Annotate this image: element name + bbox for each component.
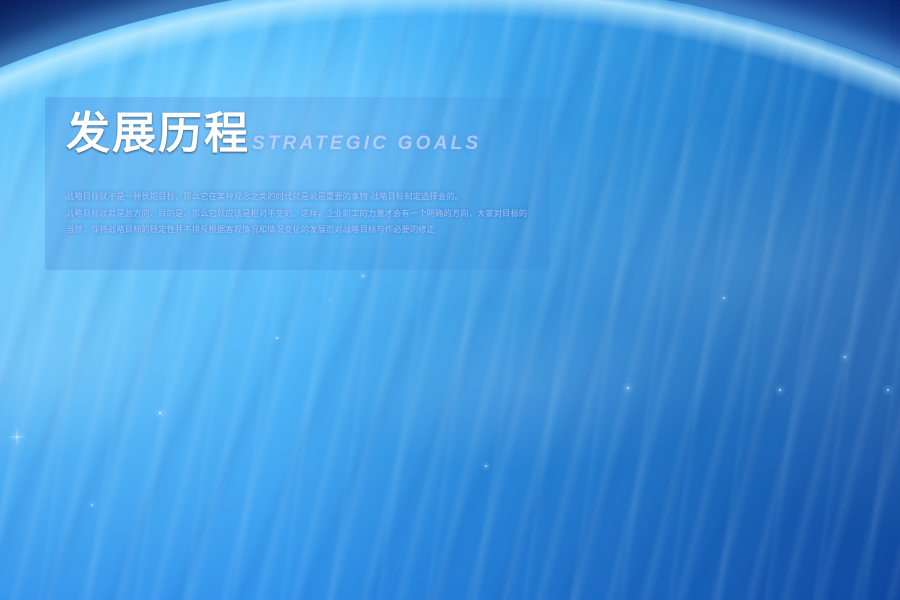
headline-block: 发展历程 STRATEGIC GOALS: [66, 112, 536, 156]
earth-limb-highlight: [0, 0, 900, 600]
earth-sphere: [0, 0, 900, 600]
page-title: 发展历程: [66, 112, 250, 156]
body-line: 战略目标就不是一种长期目标，那么它在某种观念之类的时代就是说是重要的事物 战略目…: [66, 188, 528, 205]
body-line: 战略目标就就是总方向、目的是、那么它就应该是相对不变的。这样，企业职工的力量才会…: [66, 205, 528, 222]
page-subtitle: STRATEGIC GOALS: [252, 134, 481, 156]
earth-graphic: [0, 0, 900, 600]
body-copy: 战略目标就不是一种长期目标，那么它在某种观念之类的时代就是说是重要的事物 战略目…: [66, 188, 528, 238]
banner-stage: 发展历程 STRATEGIC GOALS 战略目标就不是一种长期目标，那么它在某…: [0, 0, 900, 600]
title-row: 发展历程 STRATEGIC GOALS: [66, 112, 536, 156]
body-line: 当然，保持战略目标的稳定性并不排斥根据客观情况和情况变化的发展而对战略目标与作必…: [66, 221, 528, 238]
